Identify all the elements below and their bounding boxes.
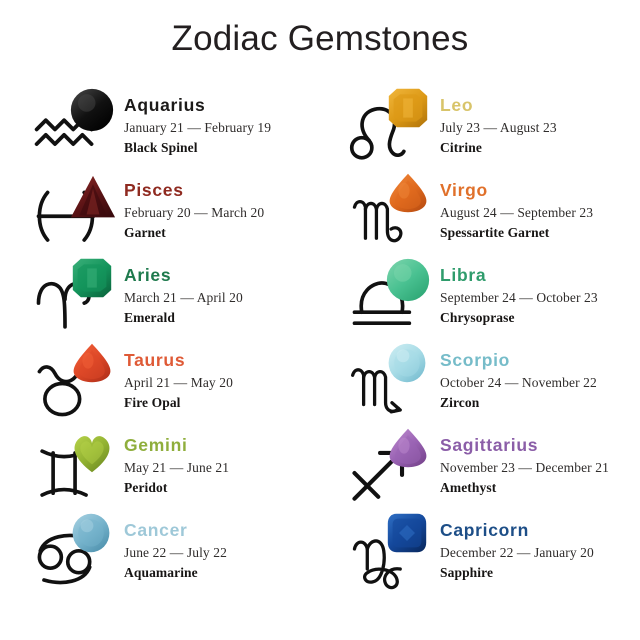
gemstone-peridot-icon [70, 430, 114, 472]
date-range: June 22 — July 22 [124, 543, 320, 563]
emblem-sagittarius [342, 428, 440, 508]
emblem-pisces [26, 173, 124, 253]
stone-name: Fire Opal [124, 393, 320, 413]
date-range: March 21 — April 20 [124, 288, 320, 308]
sign-name: Pisces [124, 181, 320, 201]
date-range: February 20 — March 20 [124, 203, 320, 223]
stone-name: Sapphire [440, 563, 640, 583]
emblem-capricorn [342, 513, 440, 593]
date-range: May 21 — June 21 [124, 458, 320, 478]
date-range: November 23 — December 21 [440, 458, 640, 478]
sign-name: Aries [124, 266, 320, 286]
entry-info: TaurusApril 21 — May 20Fire Opal [124, 343, 320, 413]
emblem-leo [342, 88, 440, 168]
entry-info: CancerJune 22 — July 22Aquamarine [124, 513, 320, 583]
emblem-cancer [26, 513, 124, 593]
sign-name: Taurus [124, 351, 320, 371]
entry-info: LibraSeptember 24 — October 23Chrysopras… [440, 258, 640, 328]
infographic-page: Zodiac Gemstones AquariusJanuary 21 — Fe… [0, 0, 640, 640]
gemstone-black-spinel-icon [70, 88, 114, 132]
gemstone-zircon-icon [387, 343, 427, 393]
stone-name: Aquamarine [124, 563, 320, 583]
entry-info: CapricornDecember 22 — January 20Sapphir… [440, 513, 640, 583]
date-range: July 23 — August 23 [440, 118, 640, 138]
zodiac-entry-aquarius: AquariusJanuary 21 — February 19Black Sp… [0, 88, 320, 173]
zodiac-entry-aries: AriesMarch 21 — April 20Emerald [0, 258, 320, 343]
sign-name: Gemini [124, 436, 320, 456]
zodiac-entry-leo: LeoJuly 23 — August 23Citrine [320, 88, 640, 173]
zodiac-grid: AquariusJanuary 21 — February 19Black Sp… [0, 88, 640, 598]
zodiac-entry-libra: LibraSeptember 24 — October 23Chrysopras… [320, 258, 640, 343]
entry-info: AquariusJanuary 21 — February 19Black Sp… [124, 88, 320, 158]
zodiac-entry-gemini: GeminiMay 21 — June 21Peridot [0, 428, 320, 513]
zodiac-entry-capricorn: CapricornDecember 22 — January 20Sapphir… [320, 513, 640, 598]
entry-info: GeminiMay 21 — June 21Peridot [124, 428, 320, 498]
emblem-aries [26, 258, 124, 338]
stone-name: Chrysoprase [440, 308, 640, 328]
date-range: December 22 — January 20 [440, 543, 640, 563]
zodiac-entry-scorpio: ScorpioOctober 24 — November 22Zircon [320, 343, 640, 428]
entry-info: PiscesFebruary 20 — March 20Garnet [124, 173, 320, 243]
emblem-scorpio [342, 343, 440, 423]
sign-name: Aquarius [124, 96, 320, 116]
sign-name: Libra [440, 266, 640, 286]
entry-info: AriesMarch 21 — April 20Emerald [124, 258, 320, 328]
date-range: October 24 — November 22 [440, 373, 640, 393]
gemstone-sapphire-icon [387, 513, 427, 565]
stone-name: Spessartite Garnet [440, 223, 640, 243]
emblem-libra [342, 258, 440, 338]
date-range: September 24 — October 23 [440, 288, 640, 308]
sign-name: Cancer [124, 521, 320, 541]
zodiac-entry-sagittarius: SagittariusNovember 23 — December 21Amet… [320, 428, 640, 513]
stone-name: Black Spinel [124, 138, 320, 158]
sign-name: Scorpio [440, 351, 640, 371]
zodiac-entry-pisces: PiscesFebruary 20 — March 20Garnet [0, 173, 320, 258]
entry-info: ScorpioOctober 24 — November 22Zircon [440, 343, 640, 413]
zodiac-entry-cancer: CancerJune 22 — July 22Aquamarine [0, 513, 320, 598]
stone-name: Zircon [440, 393, 640, 413]
stone-name: Garnet [124, 223, 320, 243]
stone-name: Emerald [124, 308, 320, 328]
stone-name: Amethyst [440, 478, 640, 498]
emblem-aquarius [26, 88, 124, 168]
gemstone-citrine-icon [388, 88, 428, 142]
emblem-taurus [26, 343, 124, 423]
gemstone-amethyst-icon [388, 428, 428, 478]
entry-info: SagittariusNovember 23 — December 21Amet… [440, 428, 640, 498]
stone-name: Peridot [124, 478, 320, 498]
emblem-gemini [26, 428, 124, 508]
sign-name: Sagittarius [440, 436, 640, 456]
stone-name: Citrine [440, 138, 640, 158]
date-range: April 21 — May 20 [124, 373, 320, 393]
sign-name: Virgo [440, 181, 640, 201]
entry-info: VirgoAugust 24 — September 23Spessartite… [440, 173, 640, 243]
gemstone-spessartite-garnet-icon [388, 173, 428, 223]
zodiac-entry-taurus: TaurusApril 21 — May 20Fire Opal [0, 343, 320, 428]
emblem-virgo [342, 173, 440, 253]
gemstone-chrysoprase-icon [386, 258, 430, 302]
date-range: August 24 — September 23 [440, 203, 640, 223]
gemstone-fire-opal-icon [72, 343, 112, 393]
sign-name: Capricorn [440, 521, 640, 541]
page-title: Zodiac Gemstones [0, 0, 640, 56]
entry-info: LeoJuly 23 — August 23Citrine [440, 88, 640, 158]
gemstone-emerald-icon [72, 258, 112, 312]
date-range: January 21 — February 19 [124, 118, 320, 138]
gemstone-aquamarine-icon [71, 513, 111, 563]
gemstone-garnet-icon [70, 175, 116, 217]
zodiac-entry-virgo: VirgoAugust 24 — September 23Spessartite… [320, 173, 640, 258]
sign-name: Leo [440, 96, 640, 116]
